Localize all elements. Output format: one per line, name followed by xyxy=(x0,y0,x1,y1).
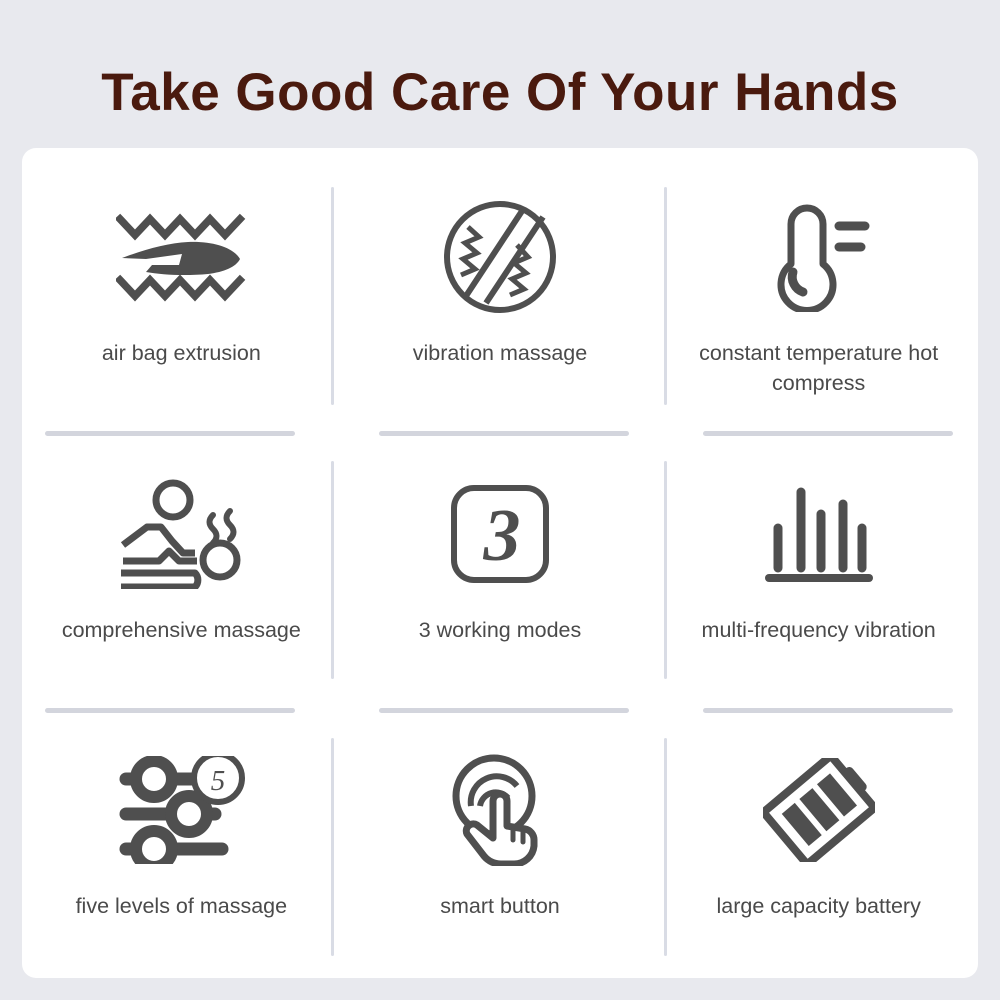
frequency-bars-icon xyxy=(763,463,875,605)
feature-label: multi-frequency vibration xyxy=(694,615,944,645)
feature-label: constant temperature hot compress xyxy=(694,338,944,398)
vibration-circle-icon xyxy=(442,186,558,328)
feature-label: five levels of massage xyxy=(56,891,306,921)
person-massage-table-icon xyxy=(117,463,245,605)
feature-label: vibration massage xyxy=(375,338,625,368)
feature-label: smart button xyxy=(375,891,625,921)
sliders-level-icon: 5 xyxy=(117,739,245,881)
hand-airbag-extrusion-icon xyxy=(116,186,246,328)
feature-item-hot-compress: constant temperature hot compress xyxy=(659,148,978,425)
product-feature-infographic: Take Good Care Of Your Hands xyxy=(0,0,1000,1000)
feature-label: air bag extrusion xyxy=(56,338,306,368)
feature-item-comprehensive-massage: comprehensive massage xyxy=(22,425,341,702)
feature-item-battery: large capacity battery xyxy=(659,701,978,978)
feature-item-air-bag-extrusion: air bag extrusion xyxy=(22,148,341,425)
feature-label: 3 working modes xyxy=(375,615,625,645)
feature-label: comprehensive massage xyxy=(56,615,306,645)
feature-card: air bag extrusion xyxy=(22,148,978,978)
thermometer-icon xyxy=(765,186,873,328)
feature-item-smart-button: smart button xyxy=(341,701,660,978)
feature-grid: air bag extrusion xyxy=(22,148,978,978)
level-count-value: 5 xyxy=(211,765,226,797)
feature-label: large capacity battery xyxy=(694,891,944,921)
battery-full-icon xyxy=(763,739,875,881)
feature-item-five-levels: 5 five levels of massage xyxy=(22,701,341,978)
number-three-square-icon: 3 xyxy=(450,463,550,605)
page-title: Take Good Care Of Your Hands xyxy=(0,62,1000,123)
touch-hand-icon xyxy=(449,739,551,881)
mode-count-value: 3 xyxy=(482,495,520,577)
feature-item-vibration-massage: vibration massage xyxy=(341,148,660,425)
feature-item-working-modes: 3 3 working modes xyxy=(341,425,660,702)
feature-item-multi-frequency: multi-frequency vibration xyxy=(659,425,978,702)
